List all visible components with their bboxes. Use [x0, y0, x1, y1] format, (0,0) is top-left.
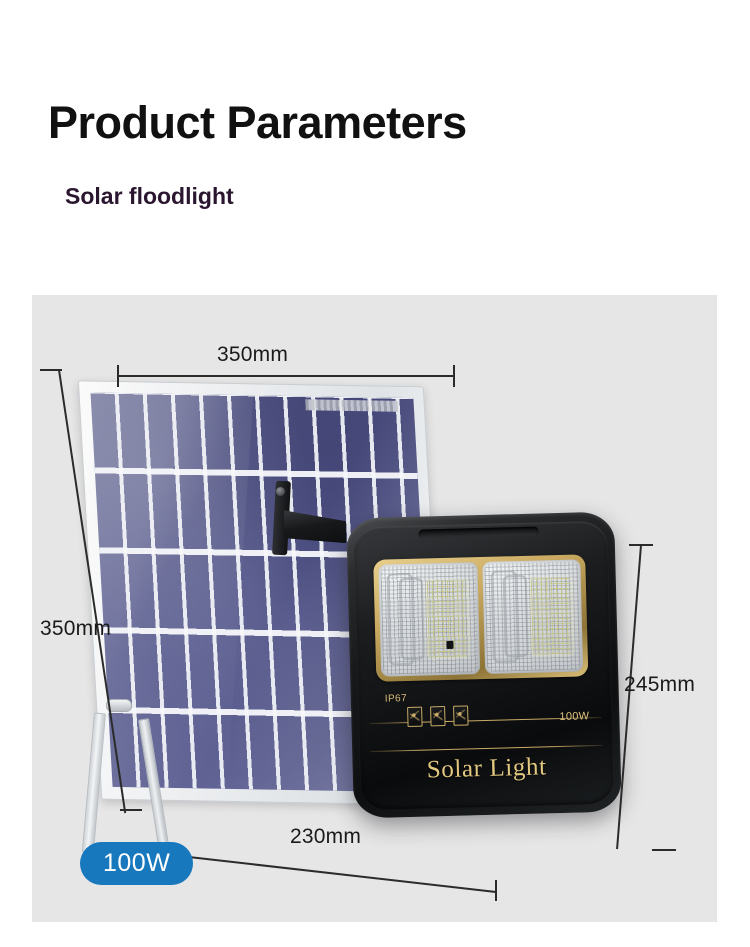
- cert-icon-1: [407, 707, 423, 727]
- dimension-tick-right-bottom: [652, 849, 676, 851]
- dimension-label-bottom: 230mm: [290, 825, 361, 849]
- dimension-line-bottom: [180, 855, 496, 892]
- dimension-tick-right-top: [629, 544, 653, 546]
- light-sensor: [446, 641, 453, 649]
- solar-panel-sticker: [305, 399, 398, 412]
- dimension-tick-bottom-right: [495, 880, 497, 901]
- dimension-label-left: 350mm: [40, 617, 111, 641]
- glass-reflection: [91, 393, 255, 793]
- led-chip-array-right: [530, 578, 572, 655]
- page-title: Product Parameters: [48, 100, 467, 145]
- ip-rating-marking: IP67: [385, 693, 407, 705]
- bracket-bolt: [276, 487, 285, 496]
- dimension-label-top: 350mm: [217, 343, 288, 367]
- dimension-tick-top-right: [453, 365, 455, 387]
- dimension-line-right: [616, 545, 642, 849]
- led-module-left: [378, 562, 479, 677]
- dimension-tick-left-bottom: [120, 809, 142, 811]
- certification-icons: [407, 705, 469, 727]
- led-module-right: [482, 559, 583, 674]
- cert-icon-3: [453, 705, 469, 725]
- floodlight-image: IP67 100W Solar Light: [346, 512, 622, 819]
- product-photo-panel: IP67 100W Solar Light 350mm 350mm 245mm …: [32, 295, 717, 922]
- wattage-marking: 100W: [559, 710, 589, 723]
- page-subtitle: Solar floodlight: [65, 185, 234, 208]
- led-module-pair: [378, 559, 583, 676]
- dimension-tick-left-top: [40, 369, 62, 371]
- wattage-badge: 100W: [80, 842, 193, 885]
- dimension-tick-top-left: [117, 365, 119, 387]
- reflector-ring-l2: [399, 578, 425, 661]
- dimension-line-top: [117, 375, 455, 377]
- cert-icon-2: [430, 706, 446, 726]
- reflector-ring-r2: [502, 575, 528, 658]
- dimension-label-right: 245mm: [624, 673, 695, 697]
- led-gold-frame: [373, 554, 588, 682]
